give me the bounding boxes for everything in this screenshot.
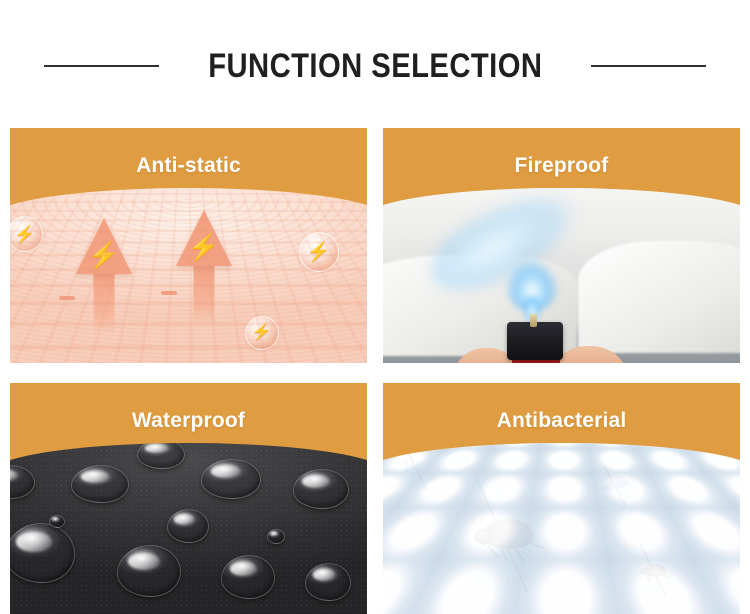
- water-droplet: [167, 509, 209, 543]
- fabric-sheet-right: [578, 241, 741, 353]
- water-droplet: [71, 465, 129, 503]
- static-bubble-bottom: ⚡: [245, 316, 279, 350]
- water-droplet: [117, 545, 181, 597]
- mite-head: [640, 568, 648, 575]
- panel-image-antibacterial: ❄: [383, 443, 740, 614]
- lightning-bolt-icon: ⚡: [252, 325, 272, 341]
- panel-label-waterproof: Waterproof: [10, 383, 367, 459]
- page-title: FUNCTION SELECTION: [208, 47, 542, 86]
- lightning-bolt-icon: ⚡: [307, 243, 331, 262]
- lightning-bolt-icon: ⚡: [87, 242, 119, 268]
- lightning-bolt-icon: ⚡: [14, 226, 35, 243]
- static-dash-left: [59, 296, 75, 300]
- water-droplet: [293, 469, 349, 509]
- water-droplet-small: [267, 529, 285, 544]
- function-panel-grid: Anti-static ⚡ ⚡: [10, 128, 740, 614]
- panel-image-anti-static: ⚡ ⚡ ⚡ ⚡ ⚡: [10, 188, 367, 363]
- static-bubble-top-left: ⚡: [10, 216, 43, 252]
- lighter-nozzle: [530, 314, 537, 327]
- panel-image-fireproof: [383, 188, 740, 363]
- panel-anti-static[interactable]: Anti-static ⚡ ⚡: [10, 128, 367, 363]
- title-rule-left: [44, 65, 159, 67]
- panel-waterproof[interactable]: Waterproof: [10, 383, 367, 614]
- panel-label-fireproof: Fireproof: [383, 128, 740, 204]
- lighter-body: [507, 322, 563, 360]
- static-bubble-right: ⚡: [299, 232, 339, 272]
- panel-antibacterial[interactable]: Antibacterial ❄: [383, 383, 740, 614]
- lightning-bolt-icon: ⚡: [187, 234, 219, 260]
- water-droplet-small: [49, 515, 65, 528]
- panel-label-antibacterial: Antibacterial: [383, 383, 740, 459]
- water-droplet: [10, 523, 75, 583]
- water-droplet: [201, 459, 261, 499]
- water-droplet: [221, 555, 275, 599]
- title-rule-right: [591, 65, 706, 67]
- panel-fireproof[interactable]: Fireproof: [383, 128, 740, 363]
- panel-image-waterproof: [10, 443, 367, 614]
- water-droplet: [305, 563, 351, 601]
- panel-label-anti-static: Anti-static: [10, 128, 367, 204]
- static-dash-right: [161, 291, 177, 295]
- page-header: FUNCTION SELECTION: [0, 0, 750, 128]
